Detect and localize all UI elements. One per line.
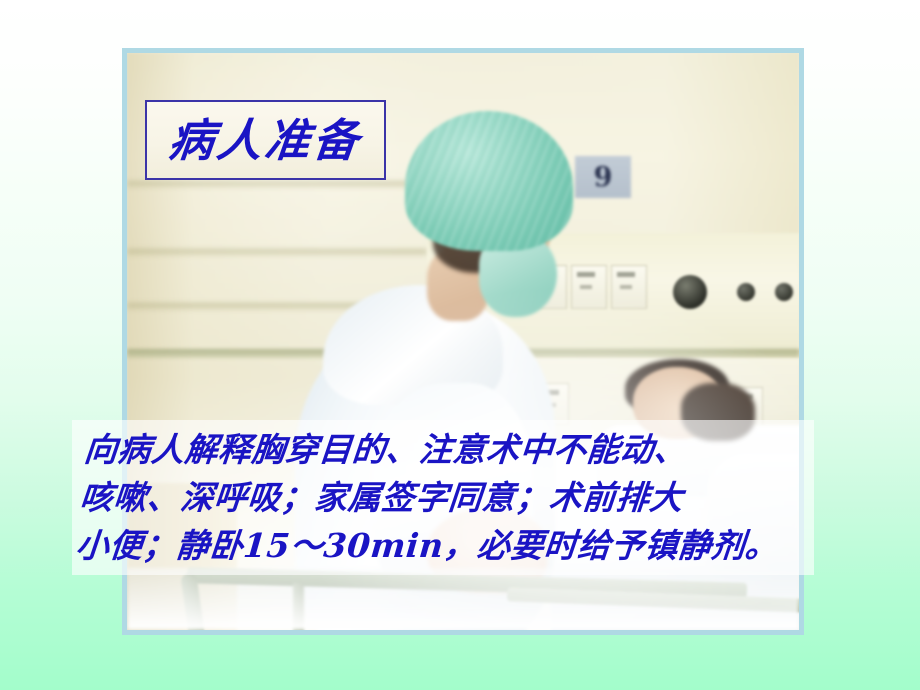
wall-gas-port-icon bbox=[673, 275, 707, 309]
body-text: 向病人解释胸穿目的、注意术中不能动、 咳嗽、深呼吸；家属签字同意；术前排大 小便… bbox=[66, 426, 795, 570]
page-title: 病人准备 bbox=[167, 118, 364, 163]
body-text-overlay: 向病人解释胸穿目的、注意术中不能动、 咳嗽、深呼吸；家属签字同意；术前排大 小便… bbox=[72, 420, 814, 575]
title-box: 病人准备 bbox=[145, 100, 386, 180]
wall-panel-line bbox=[127, 249, 427, 256]
panel-knob-icon bbox=[775, 283, 793, 301]
wall-outlet bbox=[611, 265, 647, 309]
wall-room-number-text: 9 bbox=[594, 162, 613, 193]
slide-canvas: 9 bbox=[0, 0, 920, 690]
wall-panel-line bbox=[127, 181, 427, 188]
floor bbox=[127, 568, 799, 630]
panel-knob-icon bbox=[737, 283, 755, 301]
wall-outlet bbox=[571, 265, 607, 309]
wall-room-number-sign: 9 bbox=[575, 156, 631, 198]
